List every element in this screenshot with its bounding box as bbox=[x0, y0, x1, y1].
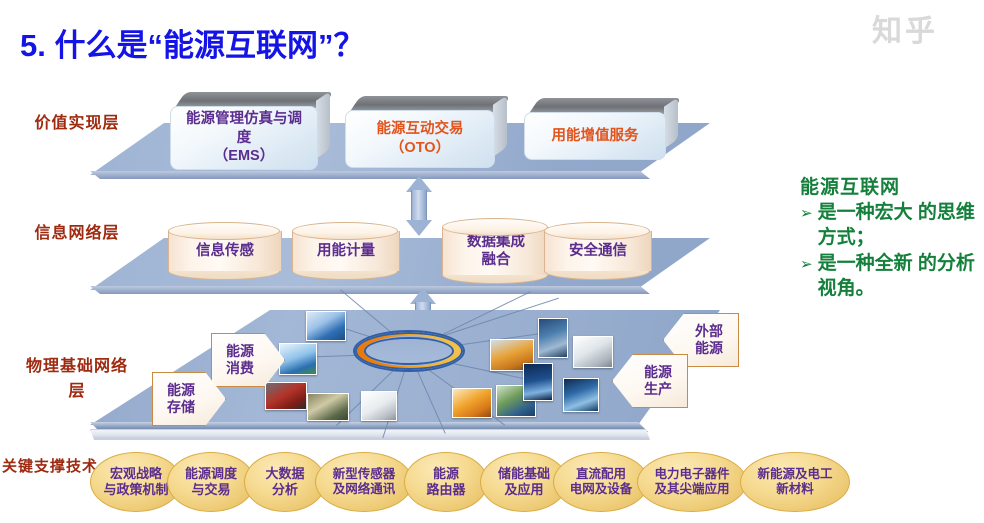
bullet-arrow-icon: ➢ bbox=[800, 201, 813, 224]
cube-face: 用能增值服务 bbox=[524, 112, 666, 160]
callout-line-1: 能源 bbox=[226, 343, 254, 361]
cyl-line-1: 安全通信 bbox=[569, 242, 627, 260]
oval-line-1: 储能基础 bbox=[498, 466, 550, 482]
cube-face: 能源管理仿真与调 度 （EMS） bbox=[170, 106, 318, 170]
box-energy-trading-oto[interactable]: 能源互动交易 （OTO） bbox=[345, 96, 495, 168]
oval-line-1: 直流配用 bbox=[576, 467, 626, 482]
thumbnail-electric-car bbox=[265, 382, 307, 410]
arrow-value-to-info bbox=[404, 176, 434, 236]
thumbnail-control-cabinet bbox=[361, 391, 397, 421]
layer-label-key-tech: 关键支撑技术 bbox=[0, 455, 100, 478]
summary-title: 能源互联网 bbox=[800, 172, 984, 199]
thumbnail-generator bbox=[452, 388, 492, 418]
zhihu-watermark: 知乎 bbox=[872, 6, 938, 50]
box-line-1: 能源管理仿真与调 bbox=[186, 110, 302, 129]
box-line-2: （OTO） bbox=[390, 139, 450, 158]
arrow-head-down-icon bbox=[406, 220, 432, 236]
oval-big-data-analytics[interactable]: 大数据 分析 bbox=[244, 452, 326, 512]
cylinder-information-sensing[interactable]: 信息传感 bbox=[168, 222, 280, 280]
box-line-2: 度 bbox=[237, 129, 252, 148]
thumbnail-wind-turbine bbox=[523, 363, 553, 401]
summary-bullet-2-text: 是一种全新 的分析视角。 bbox=[818, 252, 984, 301]
bullet-line-1: 是一种宏大 bbox=[818, 202, 913, 223]
cylinder-energy-metering[interactable]: 用能计量 bbox=[292, 222, 398, 280]
ring-inner bbox=[366, 339, 452, 363]
callout-line-2: 能源 bbox=[695, 340, 723, 358]
cylinder-cap bbox=[168, 222, 280, 240]
thumbnail-energy-truck bbox=[307, 393, 349, 421]
plane-base bbox=[90, 429, 650, 440]
box-line-1: 用能增值服务 bbox=[552, 127, 639, 146]
oval-dc-distribution[interactable]: 直流配用 电网及设备 bbox=[553, 452, 649, 512]
oval-line-2: 及网络通讯 bbox=[333, 482, 396, 497]
oval-line-1: 能源 bbox=[433, 466, 459, 482]
oval-new-sensors[interactable]: 新型传感器 及网络通讯 bbox=[315, 452, 413, 512]
callout-line-1: 能源 bbox=[167, 382, 195, 400]
oval-line-2: 路由器 bbox=[426, 482, 465, 498]
thumbnail-transmission-tower bbox=[538, 318, 568, 358]
box-value-added-service[interactable]: 用能增值服务 bbox=[524, 98, 666, 160]
slide-canvas: 知乎 5. 什么是“能源互联网”？ 价值实现层 能源管理仿真与调 度 （EMS）… bbox=[0, 0, 984, 523]
oval-line-1: 大数据 bbox=[265, 466, 304, 482]
thumbnail-solar-panel bbox=[563, 378, 599, 412]
oval-energy-router[interactable]: 能源 路由器 bbox=[404, 452, 488, 512]
arrow-shaft bbox=[411, 190, 427, 222]
callout-line-1: 外部 bbox=[695, 323, 723, 341]
callout-line-1: 能源 bbox=[644, 364, 672, 382]
cube-side bbox=[316, 91, 330, 158]
summary-bullet-1: ➢ 是一种宏大 的思维方式； bbox=[800, 201, 984, 250]
oval-line-2: 与政策机制 bbox=[103, 482, 168, 498]
callout-line-2: 存储 bbox=[167, 399, 195, 417]
box-line-1: 能源互动交易 bbox=[377, 120, 464, 139]
oval-line-1: 宏观战略 bbox=[110, 466, 162, 482]
cube-side bbox=[493, 95, 507, 156]
box-energy-management-ems[interactable]: 能源管理仿真与调 度 （EMS） bbox=[170, 92, 318, 170]
cylinder-secure-communication[interactable]: 安全通信 bbox=[544, 222, 650, 280]
bullet-arrow-icon: ➢ bbox=[800, 252, 813, 275]
oval-power-electronics[interactable]: 电力电子器件 及其尖端应用 bbox=[637, 452, 747, 512]
cylinder-cap bbox=[292, 222, 398, 240]
oval-line-2: 分析 bbox=[272, 482, 298, 498]
oval-line-2: 及应用 bbox=[504, 482, 543, 498]
energy-internet-ring bbox=[355, 332, 463, 370]
oval-line-2: 与交易 bbox=[191, 482, 230, 498]
oval-line-2: 新材料 bbox=[776, 482, 814, 497]
oval-line-1: 新型传感器 bbox=[333, 467, 396, 482]
page-title: 5. 什么是“能源互联网”？ bbox=[20, 20, 364, 65]
thumbnail-meter-panel bbox=[573, 336, 613, 368]
oval-line-1: 电力电子器件 bbox=[654, 467, 729, 482]
cyl-line-2: 融合 bbox=[482, 251, 511, 269]
oval-line-1: 新能源及电工 bbox=[757, 467, 832, 482]
summary-bullet-2: ➢ 是一种全新 的分析视角。 bbox=[800, 252, 984, 301]
thumbnail-power-plant bbox=[279, 343, 317, 375]
cylinder-data-integration[interactable]: 数据集成 融合 bbox=[442, 218, 548, 284]
plane-edge bbox=[90, 171, 650, 179]
cylinder-cap bbox=[442, 218, 548, 236]
oval-line-2: 电网及设备 bbox=[570, 482, 633, 497]
thumbnail-substation bbox=[306, 311, 346, 341]
oval-line-1: 能源调度 bbox=[185, 466, 237, 482]
energy-internet-summary: 能源互联网 ➢ 是一种宏大 的思维方式； ➢ 是一种全新 的分析视角。 bbox=[800, 172, 984, 302]
bullet-line-1: 是一种全新 bbox=[818, 253, 913, 274]
summary-bullet-1-text: 是一种宏大 的思维方式； bbox=[818, 201, 984, 250]
callout-line-2: 生产 bbox=[644, 381, 672, 399]
oval-line-2: 及其尖端应用 bbox=[654, 482, 729, 497]
cyl-line-1: 用能计量 bbox=[317, 242, 375, 260]
box-line-3: （EMS） bbox=[214, 147, 274, 166]
oval-energy-dispatch[interactable]: 能源调度 与交易 bbox=[167, 452, 255, 512]
callout-line-2: 消费 bbox=[226, 360, 254, 378]
cube-face: 能源互动交易 （OTO） bbox=[345, 110, 495, 168]
oval-new-energy-materials[interactable]: 新能源及电工 新材料 bbox=[740, 452, 850, 512]
cylinder-cap bbox=[544, 222, 650, 240]
cyl-line-1: 信息传感 bbox=[196, 242, 254, 260]
plane-edge bbox=[90, 286, 650, 294]
